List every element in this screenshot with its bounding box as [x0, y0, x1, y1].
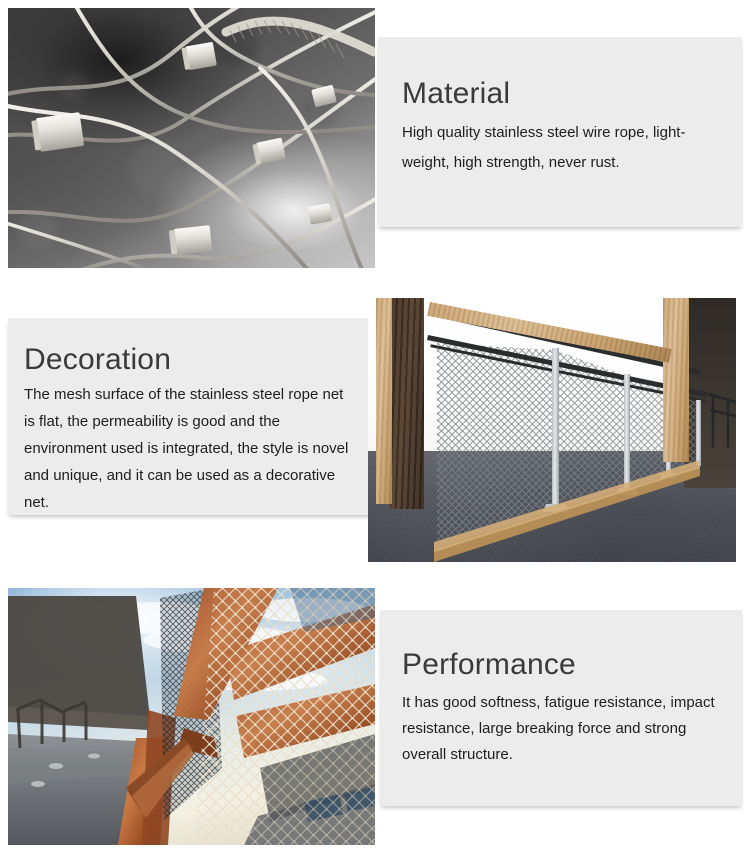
wire-rope-mesh-illustration [8, 8, 375, 268]
timber-post-left-dark [390, 298, 424, 509]
feature-image-performance [8, 588, 375, 845]
feature-title-material: Material [378, 37, 742, 109]
feature-text-panel-decoration: Decoration The mesh surface of the stain… [8, 318, 372, 515]
corten-bridge-scene [8, 588, 375, 845]
bridge-structure-illustration [8, 588, 375, 845]
mesh-macro-scene [8, 8, 375, 268]
feature-body-material: High quality stainless steel wire rope, … [378, 109, 720, 178]
timber-post-left-light [376, 298, 392, 504]
feature-body-performance: It has good softness, fatigue resistance… [380, 680, 722, 768]
ferrule-clamps [31, 42, 337, 256]
feature-text-panel-performance: Performance It has good softness, fatigu… [380, 610, 742, 806]
feature-text-panel-material: Material High quality stainless steel wi… [378, 37, 742, 227]
feature-title-decoration: Decoration [8, 318, 372, 375]
feature-image-decoration [368, 298, 736, 562]
feature-image-material [8, 8, 375, 268]
feature-title-performance: Performance [380, 610, 742, 680]
balcony-railing-scene [368, 298, 736, 562]
timber-post-right [663, 298, 689, 462]
feature-body-decoration: The mesh surface of the stainless steel … [8, 375, 349, 515]
